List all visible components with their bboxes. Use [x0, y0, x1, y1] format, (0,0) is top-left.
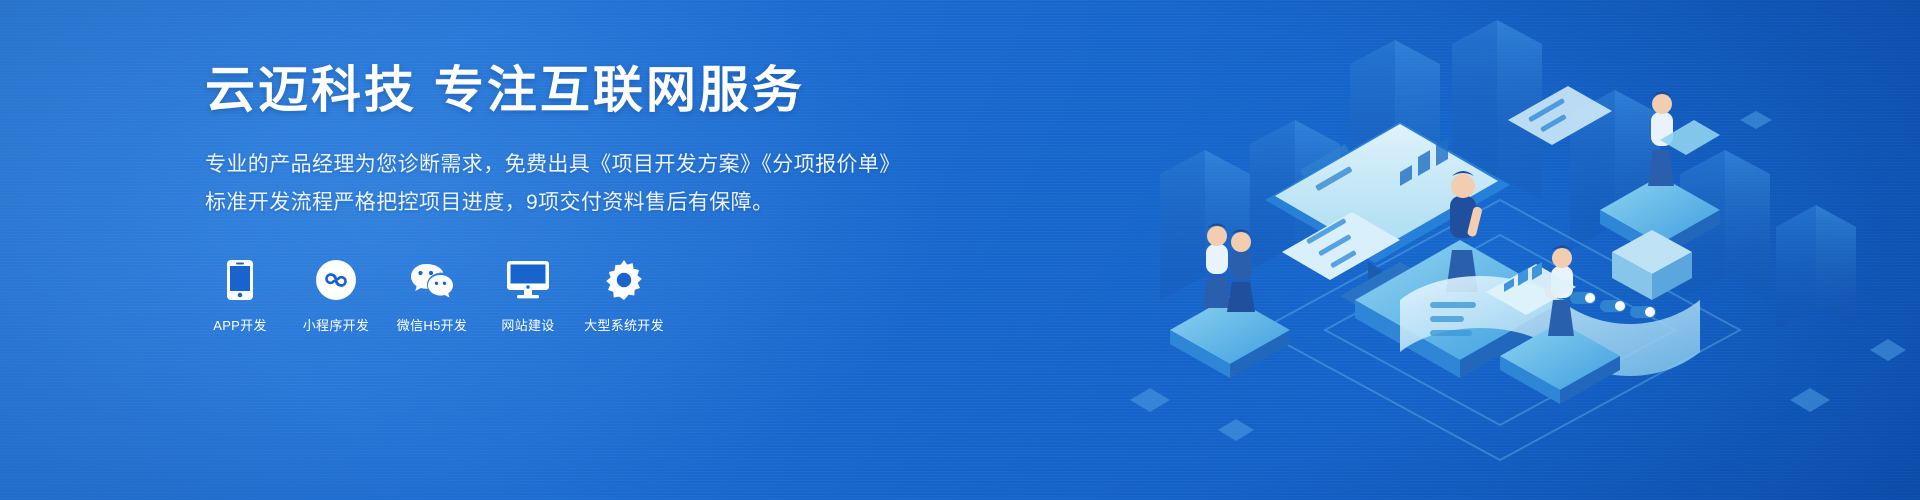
hero-banner: 云迈科技 专注互联网服务 专业的产品经理为您诊断需求，免费出具《项目开发方案》《…: [0, 0, 1920, 500]
gear-icon: [604, 258, 644, 302]
service-list: APP开发 小程序开发: [205, 258, 1105, 334]
smartphone-icon: [227, 258, 253, 302]
service-item-miniprogram[interactable]: 小程序开发: [301, 258, 371, 334]
service-label: 微信H5开发: [397, 315, 467, 334]
person-left-b: [1227, 230, 1255, 313]
person-left-a: [1203, 224, 1231, 309]
monitor-icon: [507, 258, 549, 302]
banner-content: 云迈科技 专注互联网服务 专业的产品经理为您诊断需求，免费出具《项目开发方案》《…: [205, 60, 1105, 334]
service-label: 大型系统开发: [584, 315, 664, 334]
service-label: APP开发: [213, 315, 267, 334]
service-item-app[interactable]: APP开发: [205, 258, 275, 334]
subtitle-line-2: 标准开发流程严格把控项目进度，9项交付资料售后有保障。: [205, 184, 1105, 222]
wechat-icon: [409, 258, 455, 302]
service-label: 网站建设: [501, 315, 554, 334]
service-item-wechat-h5[interactable]: 微信H5开发: [397, 258, 467, 334]
mini-program-icon: [316, 258, 356, 302]
service-item-website[interactable]: 网站建设: [493, 258, 563, 334]
subtitle-line-1: 专业的产品经理为您诊断需求，免费出具《项目开发方案》《分项报价单》: [205, 146, 1105, 184]
page-title: 云迈科技 专注互联网服务: [205, 60, 1105, 120]
service-label: 小程序开发: [303, 315, 370, 334]
banner-subtitle: 专业的产品经理为您诊断需求，免费出具《项目开发方案》《分项报价单》 标准开发流程…: [205, 146, 1105, 222]
isometric-illustration: [1100, 0, 1920, 500]
service-item-large-system[interactable]: 大型系统开发: [589, 258, 659, 334]
